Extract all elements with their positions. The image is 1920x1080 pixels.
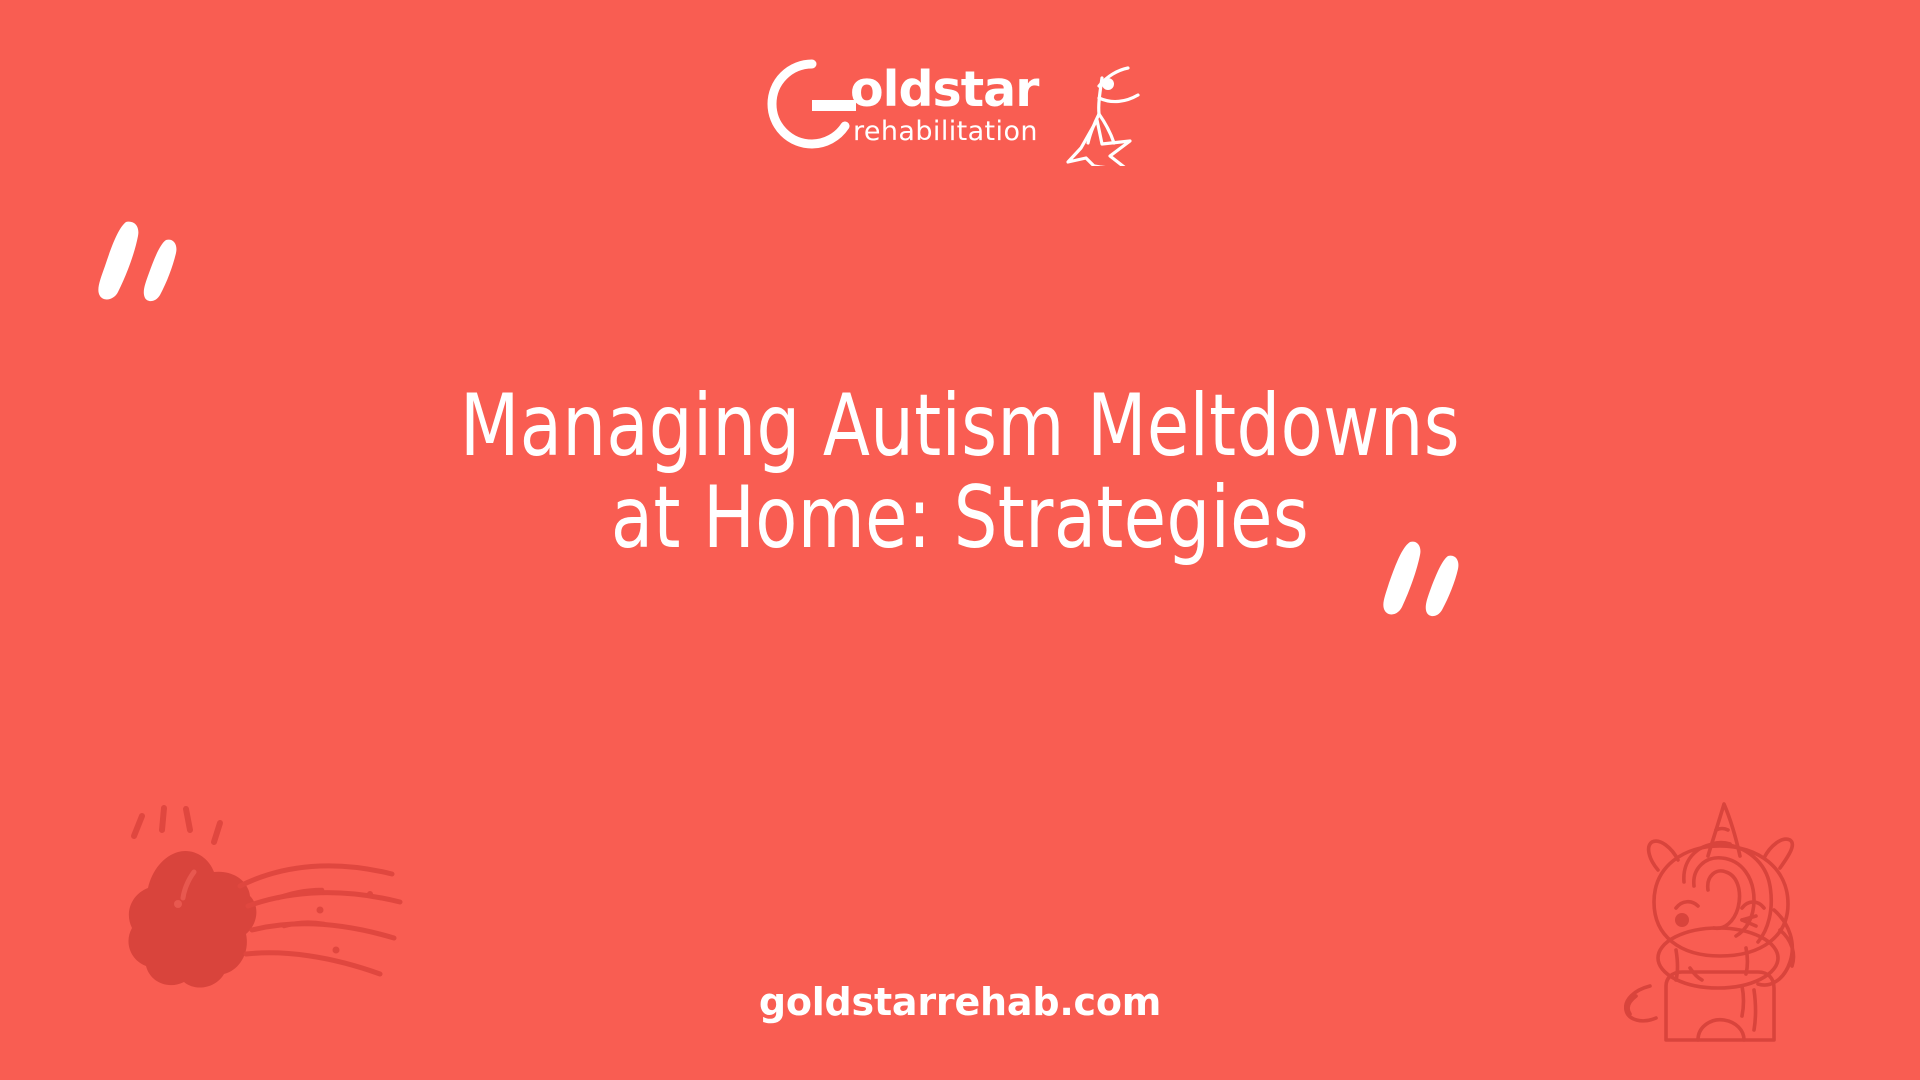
page-title: Managing Autism Meltdowns at Home: Strat… (192, 380, 1728, 566)
unicorn-icon (1624, 790, 1854, 1052)
closing-quote-mark (1382, 538, 1468, 620)
unicorn-illustration (1624, 790, 1854, 1052)
social-card-canvas: oldstar rehabilitation Managing Autism M… (0, 0, 1920, 1080)
closing-quote-icon (1382, 538, 1468, 620)
brand-logo[interactable]: oldstar rehabilitation (750, 48, 1170, 166)
shooting-star-icon (108, 794, 408, 1014)
shooting-star-illustration (108, 794, 408, 1014)
brand-logo-svg: oldstar rehabilitation (750, 48, 1170, 166)
opening-quote-icon (96, 218, 188, 306)
svg-text:rehabilitation: rehabilitation (853, 116, 1038, 147)
svg-text:oldstar: oldstar (850, 61, 1040, 118)
opening-quote-mark (96, 218, 188, 306)
